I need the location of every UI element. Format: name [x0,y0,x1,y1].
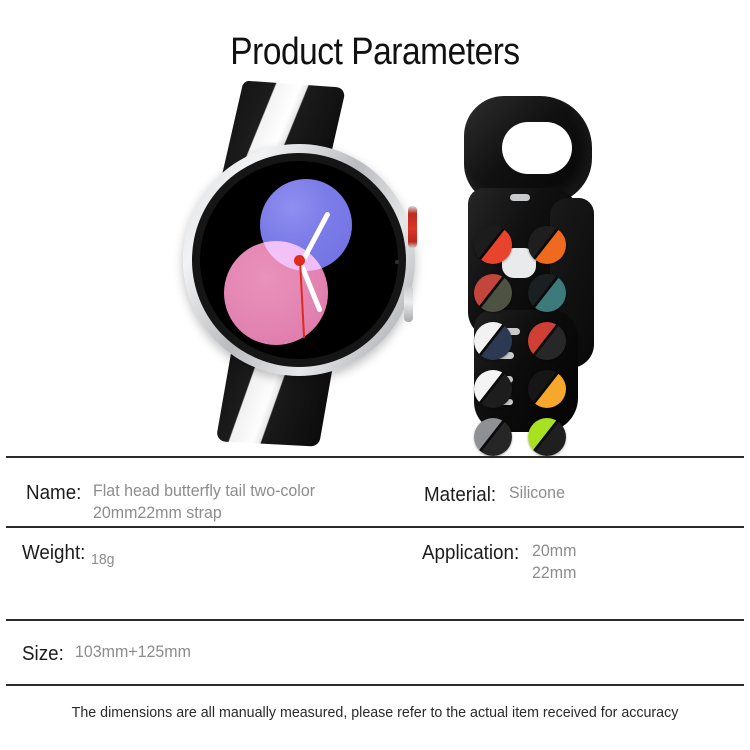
color-swatch-black-teal[interactable] [528,274,566,312]
spec-label-size: Size: [22,641,64,667]
spec-row-material: Material: Silicone [424,482,568,508]
watch-hand-pin [294,255,305,266]
measurement-disclaimer: The dimensions are all manually measured… [19,703,732,723]
color-swatch-white-black[interactable] [474,370,512,408]
color-swatch-black-yellow[interactable] [528,370,566,408]
table-divider [6,684,744,686]
table-divider [6,456,744,458]
spec-value-size: 103mm+125mm [75,641,191,663]
product-image [0,84,750,444]
watch-side-button-lower [404,286,413,322]
color-swatch-white-navy[interactable] [474,322,512,360]
strap-hole [510,194,530,201]
spec-label-name: Name: [26,480,81,506]
color-swatch-black-red[interactable] [474,226,512,264]
watch-case [183,144,415,376]
product-parameters-page: Product Parameters [0,0,750,750]
spec-value-application: 20mm 22mm [532,540,576,584]
spec-label-weight: Weight: [22,540,85,566]
table-divider [6,619,744,621]
spec-row-name: Name: Flat head butterfly tail two-color… [26,480,363,524]
spec-row-application: Application: 20mm 22mm [422,540,580,584]
spec-row-size: Size: 103mm+125mm [22,641,199,667]
watch-side-button-upper [408,206,417,248]
spec-value-weight: 18g [91,549,115,571]
color-swatch-green-black[interactable] [528,418,566,456]
color-swatch-red-black[interactable] [528,322,566,360]
color-swatch-red-olive[interactable] [474,274,512,312]
color-swatch-black-orange[interactable] [528,226,566,264]
color-swatch-grid [474,226,566,456]
spec-value-name: Flat head butterfly tail two-color 20mm2… [93,480,347,524]
spec-label-material: Material: [424,482,496,508]
spec-label-application: Application: [422,540,519,566]
spec-row-weight: Weight: 18g [22,540,116,566]
color-swatch-grey-black[interactable] [474,418,512,456]
page-title: Product Parameters [45,29,705,75]
spec-value-material: Silicone [509,482,565,504]
buckle-loop-opening [502,122,572,174]
watch-assembly [175,84,475,444]
watch-microphone-icon [395,260,399,264]
watch-screen [200,161,398,359]
table-divider [6,526,744,528]
